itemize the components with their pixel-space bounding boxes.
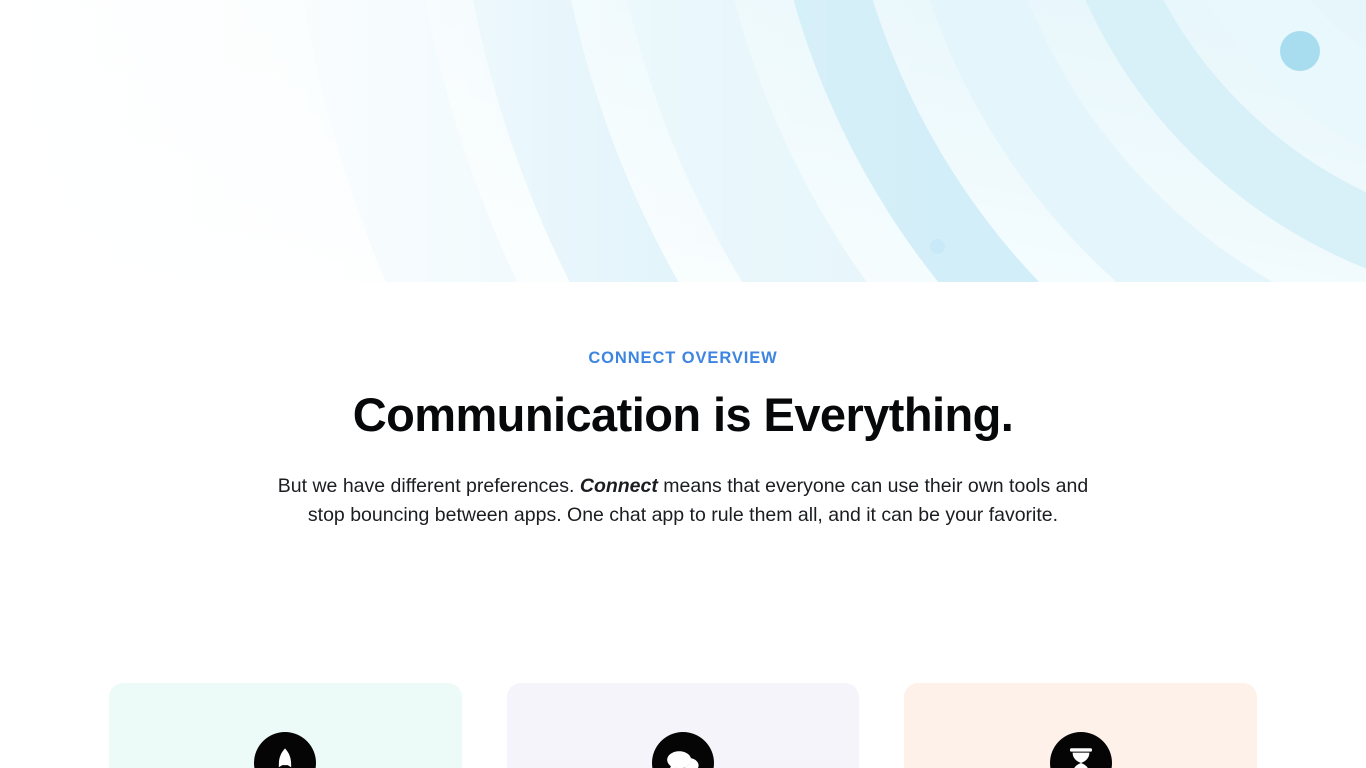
section-eyebrow: CONNECT OVERVIEW [0, 345, 1366, 371]
intro-paragraph: But we have different preferences. Conne… [258, 472, 1108, 529]
feature-card-grid [109, 683, 1257, 768]
intro-copy-before: But we have different preferences. [278, 475, 580, 497]
feature-card-rocket[interactable] [109, 683, 462, 768]
chat-bubbles-icon [652, 732, 714, 768]
hero-decoration [0, 0, 1366, 282]
page-root: CONNECT OVERVIEW Communication is Everyt… [0, 0, 1366, 768]
intro-section: CONNECT OVERVIEW Communication is Everyt… [0, 345, 1366, 529]
decor-dot-small [930, 239, 945, 254]
rocket-icon [254, 732, 316, 768]
feature-card-hourglass[interactable] [904, 683, 1257, 768]
feature-card-chat[interactable] [507, 683, 860, 768]
decor-dot-large [1280, 31, 1320, 71]
intro-copy-emphasis: Connect [580, 475, 658, 497]
page-title: Communication is Everything. [0, 389, 1366, 442]
hourglass-icon [1050, 732, 1112, 768]
concentric-rings-graphic [0, 0, 1366, 282]
